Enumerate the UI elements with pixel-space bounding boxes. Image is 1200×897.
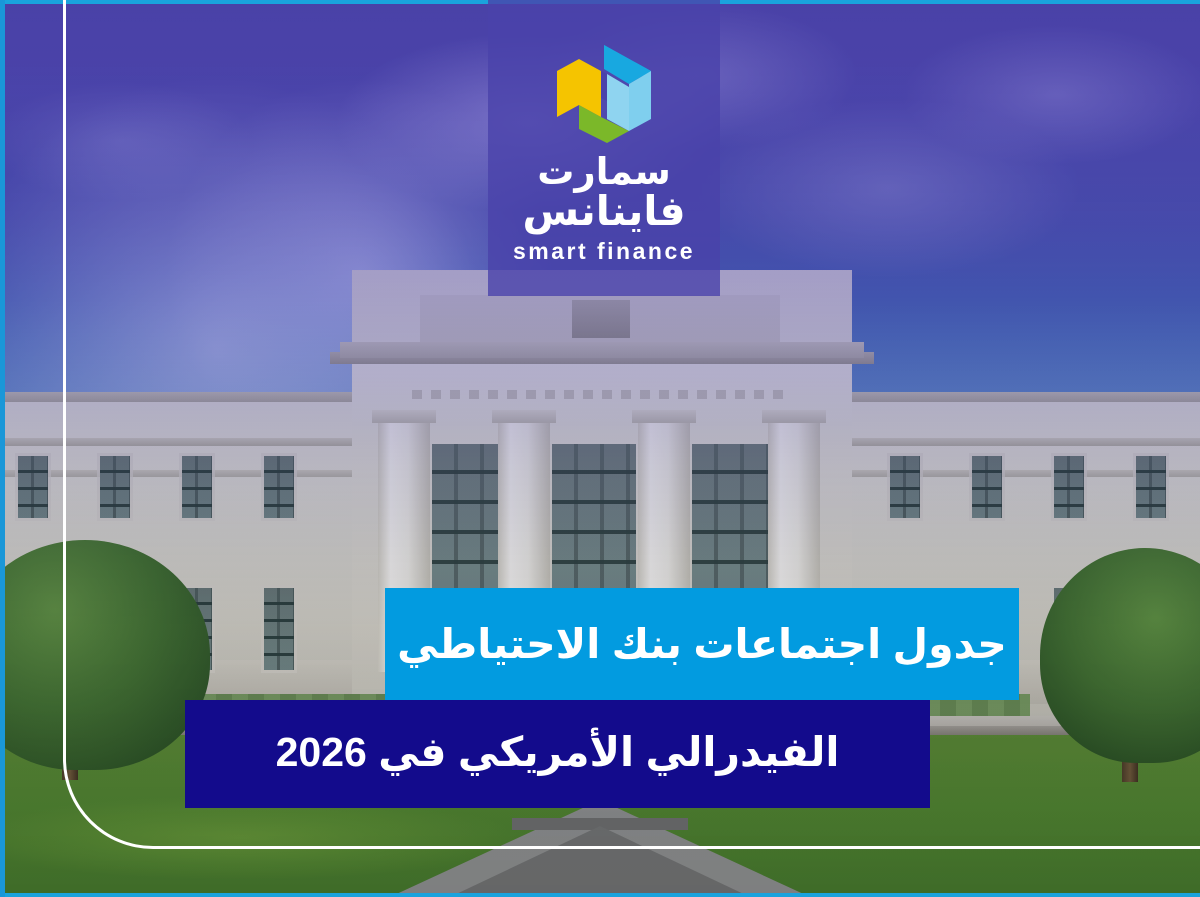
brand-arabic-line-1: سمارت	[537, 153, 671, 190]
headline-line-1: جدول اجتماعات بنك الاحتياطي	[397, 620, 1007, 668]
headline-banner-secondary: الفيدرالي الأمريكي في 2026	[185, 700, 930, 808]
brand-logo-panel: سمارت فاينانس smart finance	[488, 0, 720, 296]
poster-canvas: سمارت فاينانس smart finance جدول اجتماعا…	[0, 0, 1200, 897]
left-edge-accent	[0, 0, 5, 897]
bottom-edge-accent	[0, 893, 1200, 897]
brand-arabic-line-2: فاينانس	[522, 190, 685, 233]
headline-banner-primary: جدول اجتماعات بنك الاحتياطي	[385, 588, 1019, 700]
hexagon-u-logo-icon	[551, 43, 657, 147]
brand-english-name: smart finance	[513, 238, 695, 265]
headline-line-2: الفيدرالي الأمريكي في 2026	[276, 728, 840, 780]
